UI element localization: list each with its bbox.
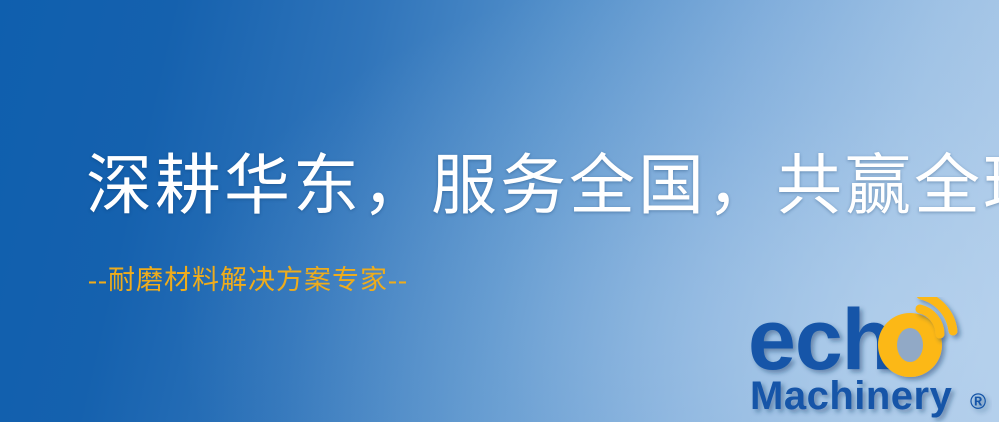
page-title: 深耕华东，服务全国，共赢全球 [86, 146, 999, 228]
logo-graphic: ech Machinery ® [748, 297, 999, 422]
logo-tagline: Machinery [750, 374, 953, 418]
banner-subtitle: --耐磨材料解决方案专家-- [88, 263, 408, 297]
logo-registered-mark: ® [970, 389, 986, 414]
promo-banner: 深耕华东，服务全国，共赢全球 --耐磨材料解决方案专家-- ech Mac [0, 0, 999, 422]
echo-machinery-logo: ech Machinery ® [748, 297, 999, 422]
